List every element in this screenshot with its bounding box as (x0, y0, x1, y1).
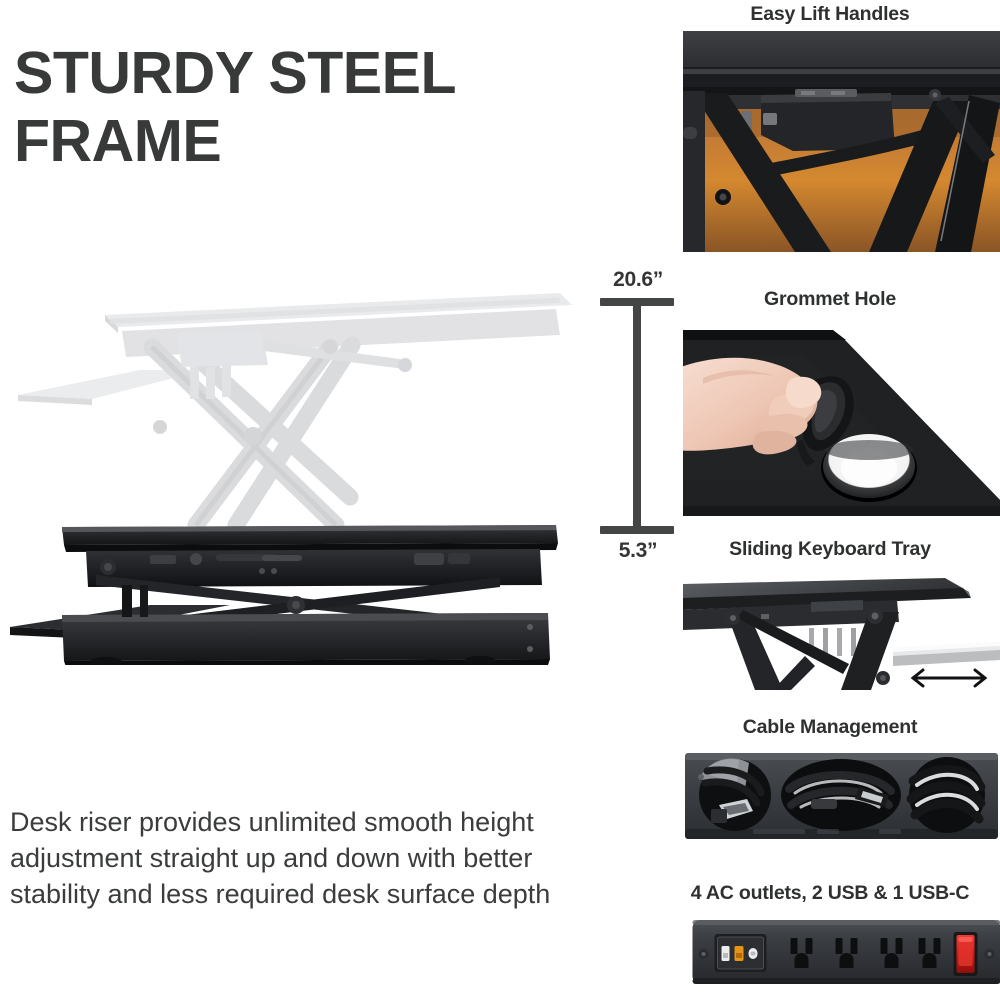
product-illustration (0, 275, 600, 665)
feature-image-power-strip (688, 916, 1000, 992)
description-text: Desk riser provides unlimited smooth hei… (10, 805, 570, 913)
feature-title-power-outlets: 4 AC outlets, 2 USB & 1 USB-C (660, 882, 1000, 905)
feature-image-grommet-hole (683, 330, 1000, 516)
feature-column: Easy Lift Handles (660, 0, 1000, 1000)
feature-image-cable-management (683, 749, 1000, 857)
feature-image-easy-lift-handles (683, 31, 1000, 252)
feature-title-sliding-keyboard-tray: Sliding Keyboard Tray (660, 538, 1000, 561)
dimension-stem (633, 302, 641, 530)
feature-title-cable-management: Cable Management (660, 716, 1000, 739)
feature-title-easy-lift-handles: Easy Lift Handles (660, 3, 1000, 26)
feature-title-grommet-hole: Grommet Hole (660, 288, 1000, 311)
feature-image-sliding-keyboard-tray (683, 570, 1000, 692)
infographic-page: STURDY STEEL FRAME (0, 0, 1000, 1000)
page-title: STURDY STEEL FRAME (14, 40, 614, 176)
